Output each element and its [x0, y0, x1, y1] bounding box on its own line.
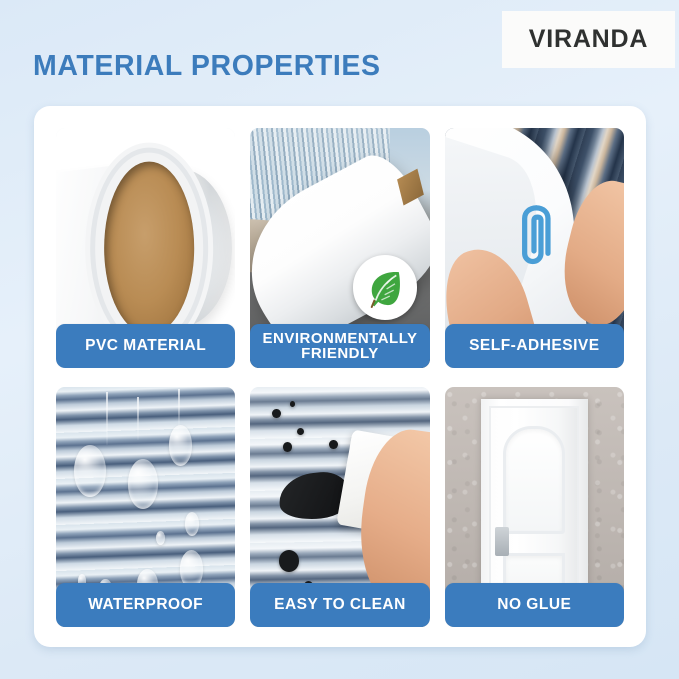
stain-spot	[290, 401, 295, 407]
feature-tile-self-adhesive: SELF-ADHESIVE	[445, 128, 624, 368]
water-droplet	[156, 531, 165, 545]
stain-spot	[329, 440, 338, 450]
water-droplet	[169, 425, 192, 466]
feature-tile-waterproof: WATERPROOF	[56, 387, 235, 627]
feature-label-self-adhesive: SELF-ADHESIVE	[445, 324, 624, 368]
page-title: MATERIAL PROPERTIES	[33, 50, 381, 83]
water-droplet	[185, 512, 199, 536]
feature-label-easy-to-clean: EASY TO CLEAN	[250, 583, 429, 627]
leaf-icon	[364, 267, 405, 308]
feature-label-pvc-material: PVC MATERIAL	[56, 324, 235, 368]
water-droplet	[74, 445, 106, 498]
brand-logo: VIRANDA	[502, 11, 675, 68]
stain-spot	[283, 442, 292, 452]
water-streak	[106, 392, 108, 445]
stain-spot	[279, 550, 299, 572]
feature-tile-easy-to-clean: EASY TO CLEAN	[250, 387, 429, 627]
water-streak	[137, 397, 139, 440]
paperclip-icon	[513, 195, 560, 277]
water-streak	[178, 389, 180, 427]
feature-tile-environmentally-friendly: ENVIRONMENTALLYFRIENDLY	[250, 128, 429, 368]
infographic-poster: VIRANDA MATERIAL PROPERTIES PVC MATERIAL	[0, 0, 679, 679]
feature-label-no-glue: NO GLUE	[445, 583, 624, 627]
feature-tile-no-glue: NO GLUE	[445, 387, 624, 627]
brand-logo-text: VIRANDA	[529, 25, 649, 54]
pvc-core-ring	[104, 162, 194, 335]
door-handle	[495, 527, 509, 555]
stain-spot	[297, 428, 304, 435]
water-droplet	[128, 459, 158, 509]
eco-badge	[353, 255, 418, 320]
stain-spot	[272, 409, 281, 419]
feature-tile-pvc-material: PVC MATERIAL	[56, 128, 235, 368]
feature-grid: PVC MATERIAL	[56, 128, 624, 627]
feature-card: PVC MATERIAL	[34, 106, 646, 647]
feature-label-waterproof: WATERPROOF	[56, 583, 235, 627]
door-panel-top	[503, 426, 565, 534]
feature-label-environmentally-friendly: ENVIRONMENTALLYFRIENDLY	[250, 324, 429, 368]
